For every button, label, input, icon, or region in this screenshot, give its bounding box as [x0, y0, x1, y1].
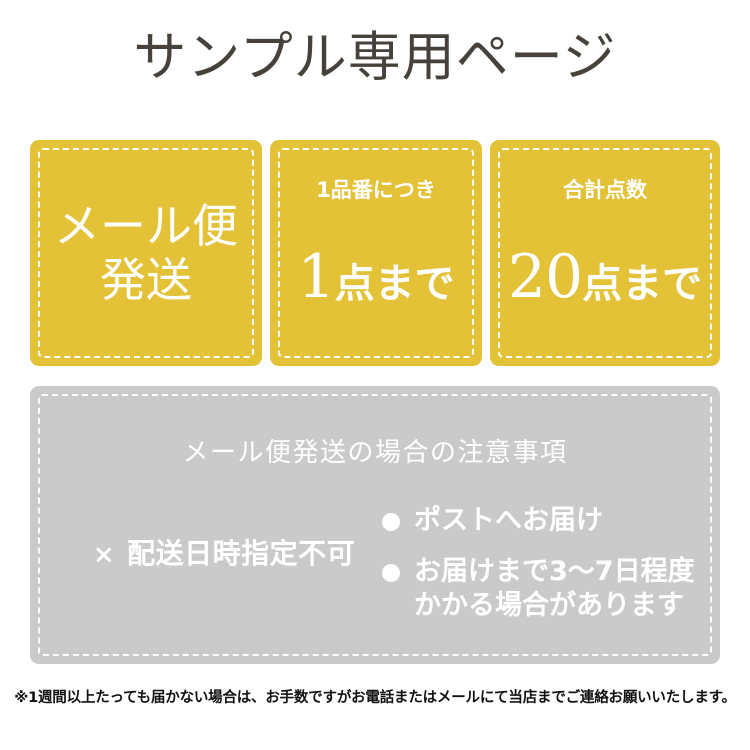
- card-per-item-limit-amount: 1 点まで: [297, 247, 454, 307]
- card-shipping-method-content: メール便 発送: [30, 140, 262, 366]
- card-total-limit-number: 20: [508, 247, 582, 307]
- footnote: ※1週間以上たっても届かない場合は、お手数ですがお電話またはメールにて当店までご…: [0, 686, 750, 707]
- card-per-item-limit-unit: 点まで: [335, 264, 455, 304]
- card-total-limit: 合計点数 20 点まで: [490, 140, 720, 366]
- card-shipping-method-line1: メール便: [54, 199, 238, 253]
- notice-no-delivery-date-label: 配送日時指定不可: [127, 537, 355, 570]
- card-total-limit-heading: 合計点数: [563, 178, 647, 203]
- cross-mark-icon: ×: [93, 540, 115, 570]
- shipping-cards-row: メール便 発送 1品番につき 1 点まで 合計点数 20 点まで: [30, 140, 720, 366]
- card-per-item-limit-number: 1: [297, 247, 334, 307]
- notice-bullet-2-text: お届けまで3〜7日程度 かかる場合があります: [414, 555, 695, 623]
- card-total-limit-amount: 20 点まで: [508, 247, 702, 307]
- card-shipping-method: メール便 発送: [30, 140, 262, 366]
- page-title: サンプル専用ページ: [0, 28, 750, 89]
- notice-no-delivery-date: ×配送日時指定不可: [54, 532, 394, 572]
- card-shipping-method-line2: 発送: [100, 253, 192, 307]
- card-per-item-limit-heading: 1品番につき: [316, 178, 436, 203]
- notice-bullet-1-line1: ポストへお届け: [414, 505, 603, 536]
- card-per-item-limit: 1品番につき 1 点まで: [270, 140, 482, 366]
- notice-bullet-2-line1: お届けまで3〜7日程度: [414, 556, 695, 587]
- notice-body: ×配送日時指定不可 ポストへお届け お届けまで3〜7日程度 かかる場合があります: [30, 504, 720, 644]
- list-item: お届けまで3〜7日程度 かかる場合があります: [382, 555, 712, 623]
- card-total-limit-unit: 点まで: [582, 264, 702, 304]
- notice-title: メール便発送の場合の注意事項: [30, 432, 720, 469]
- bullet-dot-icon: [382, 513, 400, 531]
- notice-bullet-1-text: ポストへお届け: [414, 504, 603, 538]
- card-total-limit-content: 合計点数 20 点まで: [490, 140, 720, 366]
- card-per-item-limit-content: 1品番につき 1 点まで: [270, 140, 482, 366]
- notice-bullet-list: ポストへお届け お届けまで3〜7日程度 かかる場合があります: [382, 504, 712, 622]
- notice-bullet-2-line2: かかる場合があります: [414, 589, 695, 623]
- list-item: ポストへお届け: [382, 504, 712, 538]
- sample-page-banner: サンプル専用ページ メール便 発送 1品番につき 1 点まで: [0, 0, 750, 750]
- bullet-dot-icon: [382, 564, 400, 582]
- notice-panel: メール便発送の場合の注意事項 ×配送日時指定不可 ポストへお届け お届けまで3〜…: [30, 386, 720, 664]
